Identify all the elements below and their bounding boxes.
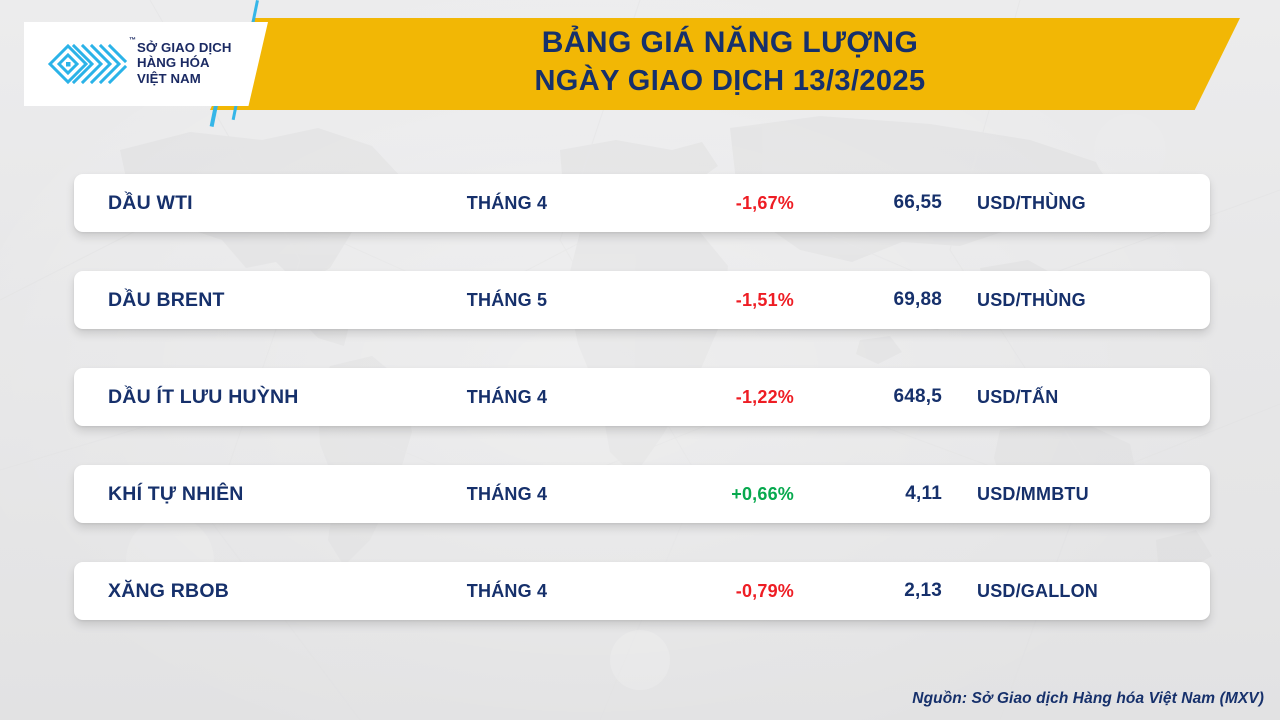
contract-month: THÁNG 4: [412, 174, 602, 232]
contract-month: THÁNG 4: [412, 368, 602, 426]
price-value: 2,13: [814, 562, 942, 620]
commodity-name: DẦU ÍT LƯU HUỲNH: [108, 368, 299, 426]
trademark-symbol: ™: [129, 33, 136, 48]
logo-wordmark: ™ SỞ GIAO DỊCH HÀNG HÓA VIỆT NAM: [137, 40, 232, 86]
commodity-name: XĂNG RBOB: [108, 562, 229, 620]
source-attribution: Nguồn: Sở Giao dịch Hàng hóa Việt Nam (M…: [912, 690, 1264, 708]
change-percent: +0,66%: [614, 465, 794, 523]
price-unit: USD/TẤN: [977, 368, 1058, 426]
commodity-name: DẦU BRENT: [108, 271, 225, 329]
logo-line-3: VIỆT NAM: [137, 71, 232, 86]
header-title-block: BẢNG GIÁ NĂNG LƯỢNG NGÀY GIAO DỊCH 13/3/…: [300, 24, 1160, 100]
price-value: 648,5: [814, 368, 942, 426]
table-row: DẦU ÍT LƯU HUỲNH THÁNG 4 -1,22% 648,5 US…: [74, 368, 1210, 426]
price-value: 4,11: [814, 465, 942, 523]
price-value: 69,88: [814, 271, 942, 329]
price-unit: USD/MMBTU: [977, 465, 1089, 523]
table-row: DẦU WTI THÁNG 4 -1,67% 66,55 USD/THÙNG: [74, 174, 1210, 232]
change-percent: -1,22%: [614, 368, 794, 426]
logo-panel: ™ SỞ GIAO DỊCH HÀNG HÓA VIỆT NAM: [24, 22, 268, 106]
table-row: XĂNG RBOB THÁNG 4 -0,79% 2,13 USD/GALLON: [74, 562, 1210, 620]
price-unit: USD/THÙNG: [977, 174, 1086, 232]
contract-month: THÁNG 4: [412, 465, 602, 523]
commodity-name: KHÍ TỰ NHIÊN: [108, 465, 244, 523]
page-title: BẢNG GIÁ NĂNG LƯỢNG: [300, 24, 1160, 62]
price-unit: USD/THÙNG: [977, 271, 1086, 329]
change-percent: -1,67%: [614, 174, 794, 232]
page-header: ™ SỞ GIAO DỊCH HÀNG HÓA VIỆT NAM BẢNG GI…: [0, 0, 1280, 128]
commodity-name: DẦU WTI: [108, 174, 193, 232]
change-percent: -0,79%: [614, 562, 794, 620]
mxv-chevron-logo-icon: [46, 40, 128, 88]
logo-line-2: HÀNG HÓA: [137, 55, 232, 70]
price-value: 66,55: [814, 174, 942, 232]
change-percent: -1,51%: [614, 271, 794, 329]
table-row: KHÍ TỰ NHIÊN THÁNG 4 +0,66% 4,11 USD/MMB…: [74, 465, 1210, 523]
price-unit: USD/GALLON: [977, 562, 1098, 620]
page-subtitle-date: NGÀY GIAO DỊCH 13/3/2025: [300, 62, 1160, 100]
logo-line-1: SỞ GIAO DỊCH: [137, 40, 232, 55]
table-row: DẦU BRENT THÁNG 5 -1,51% 69,88 USD/THÙNG: [74, 271, 1210, 329]
contract-month: THÁNG 4: [412, 562, 602, 620]
energy-price-table: DẦU WTI THÁNG 4 -1,67% 66,55 USD/THÙNG D…: [74, 174, 1210, 620]
contract-month: THÁNG 5: [412, 271, 602, 329]
